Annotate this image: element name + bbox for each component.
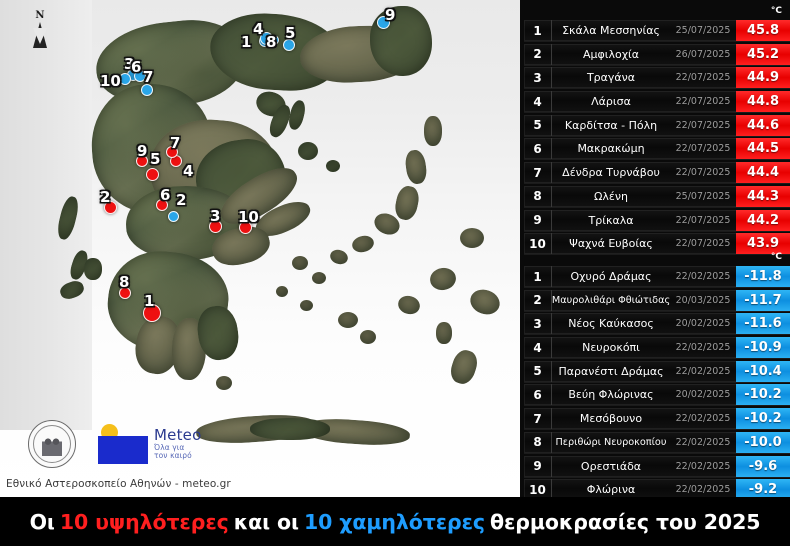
hot-marker-label: 9 (137, 142, 147, 160)
row-date: 25/07/2025 (670, 186, 736, 207)
table-row[interactable]: 6Βεύη Φλώρινας20/02/2025-10.2 (524, 384, 790, 405)
hot-marker-label: 6 (160, 186, 170, 204)
row-temperature-value: 45.2 (736, 44, 790, 65)
hot-marker-label: 5 (150, 150, 160, 168)
row-temperature-value: 44.4 (736, 162, 790, 183)
meteo-mark-icon (98, 424, 148, 464)
row-rank: 7 (524, 162, 552, 183)
row-station-name: Μαυρολιθάρι Φθιώτιδας (552, 290, 670, 311)
row-rank: 6 (524, 384, 552, 405)
meteo-wordmark: Meteo (154, 428, 201, 444)
row-rank: 9 (524, 456, 552, 477)
hot-marker-label: 1 (144, 292, 154, 310)
row-rank: 5 (524, 361, 552, 382)
cold-marker-label: 4 (253, 20, 263, 38)
cold-marker-label: 1 (241, 33, 251, 51)
row-station-name: Δένδρα Τυρνάβου (552, 162, 670, 183)
row-date: 26/07/2025 (670, 44, 736, 65)
table-row[interactable]: 7Δένδρα Τυρνάβου22/07/202544.4 (524, 162, 790, 183)
row-station-name: Τραγάνα (552, 67, 670, 88)
row-station-name: Ορεστιάδα (552, 456, 670, 477)
row-temperature-value: -10.4 (736, 361, 790, 382)
table-row[interactable]: 6Μακρακώμη22/07/202544.5 (524, 138, 790, 159)
table-row[interactable]: 2Αμφιλοχία26/07/202545.2 (524, 44, 790, 65)
row-station-name: Μεσόβουνο (552, 408, 670, 429)
title-hot-highlight: 10 υψηλότερες (60, 510, 229, 534)
greece-map[interactable]: N 1234567891012345678910 Meteo Όλα για τ… (0, 0, 520, 497)
row-station-name: Σκάλα Μεσσηνίας (552, 20, 670, 41)
row-temperature-value: -10.2 (736, 408, 790, 429)
row-rank: 3 (524, 67, 552, 88)
row-temperature-value: 44.2 (736, 210, 790, 231)
table-row[interactable]: 5Παρανέστι Δράμας22/02/2025-10.4 (524, 361, 790, 382)
row-temperature-value: 44.9 (736, 67, 790, 88)
row-station-name: Αμφιλοχία (552, 44, 670, 65)
table-row[interactable]: 8Περιθώρι Νευροκοπίου22/02/2025-10.0 (524, 432, 790, 453)
row-temperature-value: -10.9 (736, 337, 790, 358)
row-station-name: Νέος Καύκασος (552, 313, 670, 334)
row-date: 22/07/2025 (670, 138, 736, 159)
row-temperature-value: -11.6 (736, 313, 790, 334)
row-rank: 4 (524, 91, 552, 112)
table-row[interactable]: 1Οχυρό Δράμας22/02/2025-11.8 (524, 266, 790, 287)
noa-seal-icon (28, 420, 76, 468)
row-rank: 2 (524, 44, 552, 65)
row-station-name: Περιθώρι Νευροκοπίου (552, 432, 670, 453)
table-row[interactable]: 4Νευροκόπι22/02/2025-10.9 (524, 337, 790, 358)
row-date: 25/07/2025 (670, 20, 736, 41)
hot-marker-dot-icon (146, 168, 159, 181)
meteo-tagline-line2: τον καιρό (154, 452, 201, 460)
table-row[interactable]: 9Ορεστιάδα22/02/2025-9.6 (524, 456, 790, 477)
row-rank: 1 (524, 266, 552, 287)
cold-marker-label: 6 (131, 58, 141, 76)
north-arrow-icon: N (26, 10, 54, 56)
coldest-temperatures-table: °C 1Οχυρό Δράμας22/02/2025-11.82Μαυρολιθ… (524, 252, 790, 503)
cold-marker-dot-icon (168, 211, 179, 222)
table-row[interactable]: 2Μαυρολιθάρι Φθιώτιδας20/03/2025-11.7 (524, 290, 790, 311)
row-date: 22/02/2025 (670, 408, 736, 429)
row-date: 20/03/2025 (670, 290, 736, 311)
cold-marker-label: 7 (143, 68, 153, 86)
row-temperature-value: -9.6 (736, 456, 790, 477)
row-rank: 1 (524, 20, 552, 41)
row-date: 22/02/2025 (670, 456, 736, 477)
hot-marker-label: 3 (210, 207, 220, 225)
row-temperature-value: 45.8 (736, 20, 790, 41)
row-date: 20/02/2025 (670, 384, 736, 405)
row-rank: 8 (524, 432, 552, 453)
row-station-name: Λάρισα (552, 91, 670, 112)
cold-marker-label: 10 (100, 72, 121, 90)
north-label: N (35, 10, 44, 21)
row-rank: 5 (524, 115, 552, 136)
title-part-2: και οι (234, 510, 299, 534)
row-rank: 3 (524, 313, 552, 334)
row-station-name: Μακρακώμη (552, 138, 670, 159)
row-date: 22/07/2025 (670, 91, 736, 112)
row-temperature-value: -10.0 (736, 432, 790, 453)
hot-marker-label: 10 (238, 208, 259, 226)
row-temperature-value: 44.8 (736, 91, 790, 112)
table-row[interactable]: 7Μεσόβουνο22/02/2025-10.2 (524, 408, 790, 429)
hot-marker-label: 7 (170, 134, 180, 152)
footer-title-bar: Οι10 υψηλότερεςκαι οι10 χαμηλότερεςθερμο… (0, 497, 790, 546)
row-rank: 4 (524, 337, 552, 358)
title-part-3: θερμοκρασίες του 2025 (490, 510, 760, 534)
row-date: 22/07/2025 (670, 115, 736, 136)
row-date: 22/02/2025 (670, 432, 736, 453)
row-rank: 9 (524, 210, 552, 231)
infographic-root: N 1234567891012345678910 Meteo Όλα για τ… (0, 0, 790, 546)
logo-group: Meteo Όλα για τον καιρό (28, 420, 201, 468)
table-row[interactable]: 9Τρίκαλα22/07/202544.2 (524, 210, 790, 231)
row-temperature-value: -11.8 (736, 266, 790, 287)
row-station-name: Παρανέστι Δράμας (552, 361, 670, 382)
row-date: 22/07/2025 (670, 67, 736, 88)
row-rank: 2 (524, 290, 552, 311)
row-date: 22/07/2025 (670, 210, 736, 231)
compass-arrow-icon (33, 22, 47, 48)
row-station-name: Οχυρό Δράμας (552, 266, 670, 287)
table-row[interactable]: 3Νέος Καύκασος20/02/2025-11.6 (524, 313, 790, 334)
cold-marker-label: 8 (266, 33, 276, 51)
row-date: 20/02/2025 (670, 313, 736, 334)
hot-unit-label: °C (771, 6, 782, 16)
row-station-name: Βεύη Φλώρινας (552, 384, 670, 405)
table-row[interactable]: 3Τραγάνα22/07/202544.9 (524, 67, 790, 88)
title-part-1: Οι (30, 510, 55, 534)
table-row[interactable]: 4Λάρισα22/07/202544.8 (524, 91, 790, 112)
row-date: 22/02/2025 (670, 337, 736, 358)
row-temperature-value: -11.7 (736, 290, 790, 311)
hot-marker-label: 2 (100, 188, 110, 206)
title-cold-highlight: 10 χαμηλότερες (304, 510, 485, 534)
row-rank: 8 (524, 186, 552, 207)
row-station-name: Ωλένη (552, 186, 670, 207)
row-station-name: Νευροκόπι (552, 337, 670, 358)
row-date: 22/02/2025 (670, 266, 736, 287)
row-temperature-value: 44.3 (736, 186, 790, 207)
table-row[interactable]: 1Σκάλα Μεσσηνίας25/07/202545.8 (524, 20, 790, 41)
hot-unit-row: °C (524, 6, 790, 20)
row-temperature-value: -10.2 (736, 384, 790, 405)
map-credit: Εθνικό Αστεροσκοπείο Αθηνών - meteo.gr (6, 478, 231, 490)
row-date: 22/07/2025 (670, 162, 736, 183)
page-title: Οι10 υψηλότερεςκαι οι10 χαμηλότερεςθερμο… (30, 510, 761, 534)
cold-marker-label: 5 (285, 24, 295, 42)
hot-marker-label: 4 (183, 162, 193, 180)
table-row[interactable]: 8Ωλένη25/07/202544.3 (524, 186, 790, 207)
row-temperature-value: 44.5 (736, 138, 790, 159)
row-temperature-value: 44.6 (736, 115, 790, 136)
row-station-name: Τρίκαλα (552, 210, 670, 231)
cold-marker-label: 2 (176, 191, 186, 209)
row-date: 22/02/2025 (670, 361, 736, 382)
hottest-temperatures-table: °C 1Σκάλα Μεσσηνίας25/07/202545.82Αμφιλο… (524, 6, 790, 257)
map-left-margin (0, 0, 92, 430)
row-station-name: Καρδίτσα - Πόλη (552, 115, 670, 136)
cold-marker-label: 9 (385, 6, 395, 24)
row-rank: 7 (524, 408, 552, 429)
row-rank: 6 (524, 138, 552, 159)
cold-unit-label: °C (771, 252, 782, 262)
meteo-logo[interactable]: Meteo Όλα για τον καιρό (98, 424, 201, 464)
table-row[interactable]: 5Καρδίτσα - Πόλη22/07/202544.6 (524, 115, 790, 136)
letter-m-icon (98, 436, 148, 464)
cold-unit-row: °C (524, 252, 790, 266)
tables-region: °C 1Σκάλα Μεσσηνίας25/07/202545.82Αμφιλο… (524, 0, 790, 497)
hot-marker-label: 8 (119, 273, 129, 291)
